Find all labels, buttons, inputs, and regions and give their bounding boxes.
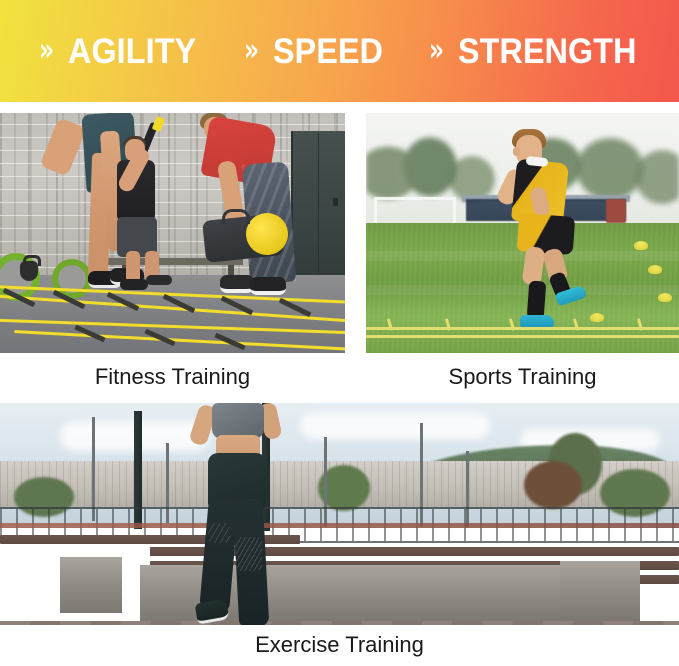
photo2-mow-stripe: [366, 285, 679, 295]
photo1-kettlebell-handle: [23, 255, 41, 266]
banner-item-strength: » STRENGTH: [429, 34, 653, 69]
photo3-runner-sports-bra: [212, 403, 264, 439]
photo1-agility-ladder: [0, 283, 345, 353]
banner-item-speed: » SPEED: [244, 34, 393, 69]
banner-label-speed: SPEED: [273, 34, 383, 69]
photo3-concrete-floor: [0, 621, 679, 625]
banner-item-agility: » AGILITY: [39, 34, 208, 69]
photo-sports-training: [366, 113, 679, 353]
top-photo-row: [0, 113, 679, 353]
photo3-legging-mesh-panel: [208, 523, 230, 543]
photo2-agility-ladder: [366, 309, 679, 335]
chevron-double-right-icon: »: [39, 35, 52, 67]
banner-label-agility: AGILITY: [68, 34, 196, 69]
photo1-door-handle: [333, 198, 338, 206]
photo2-barrel: [606, 199, 626, 223]
photo-exercise-training: [0, 403, 679, 625]
photo1-power-bag-handle: [222, 209, 250, 224]
photo2-marker-cone: [590, 313, 604, 322]
photo-fitness-training: [0, 113, 345, 353]
photo2-mow-stripe: [366, 251, 679, 261]
chevron-double-right-icon: »: [429, 35, 442, 67]
photo3-mast: [92, 417, 95, 521]
photo3-cloud: [300, 413, 490, 439]
chevron-double-right-icon: »: [244, 35, 257, 67]
photo2-marker-cone: [648, 265, 662, 274]
photo1-door-seam: [318, 133, 319, 275]
banner-label-strength: STRENGTH: [458, 34, 637, 69]
photo3-legging-mesh-panel: [236, 537, 262, 571]
photo3-bleachers: [0, 535, 679, 625]
photo2-boy-shorts: [517, 213, 576, 255]
header-banner: » AGILITY » SPEED » STRENGTH: [0, 0, 679, 102]
caption-sports-training: Sports Training: [366, 364, 679, 390]
photo2-marker-cone: [634, 241, 648, 250]
caption-exercise-training: Exercise Training: [0, 632, 679, 658]
photo2-marker-cone: [658, 293, 672, 302]
caption-fitness-training: Fitness Training: [0, 364, 345, 390]
banner-items: » AGILITY » SPEED » STRENGTH: [0, 34, 679, 69]
photo3-tree-autumn: [524, 461, 582, 509]
photo3-red-trim-line: [0, 523, 679, 528]
photo2-boy-ear: [513, 147, 520, 156]
